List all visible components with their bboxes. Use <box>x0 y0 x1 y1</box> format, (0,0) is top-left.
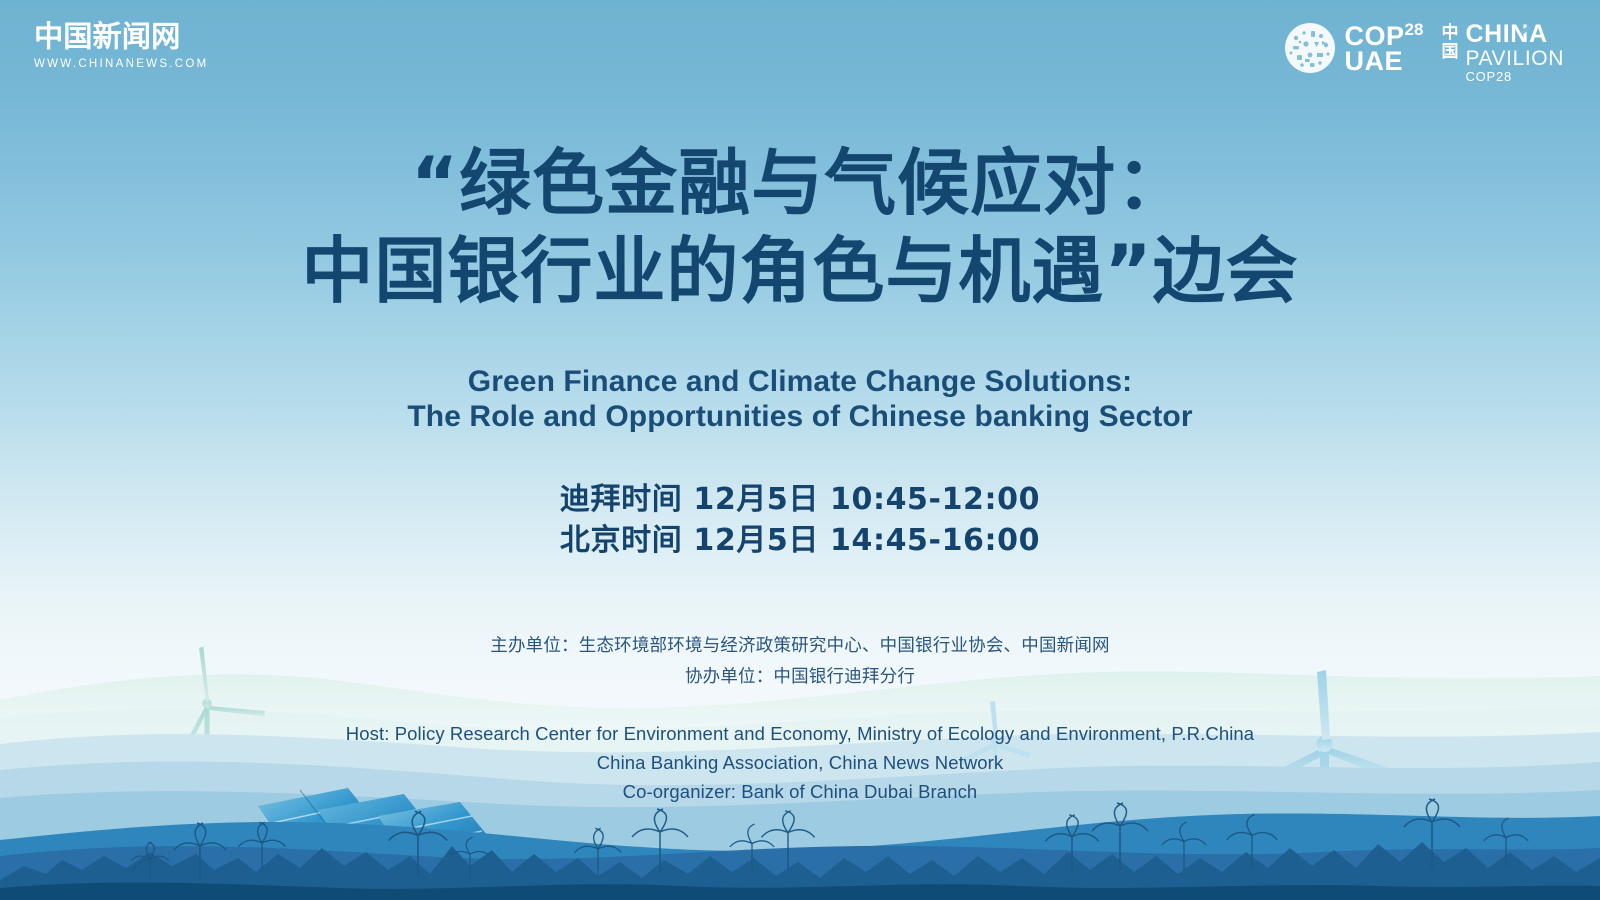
vegetation-silhouettes <box>131 799 1528 883</box>
organizers-chinese: 主办单位：生态环境部环境与经济政策研究中心、中国银行业协会、中国新闻网 协办单位… <box>0 631 1600 692</box>
hill-layer-5 <box>0 846 1600 900</box>
hill-layer-6-jagged-ridge <box>0 842 1600 900</box>
event-title-english: Green Finance and Climate Change Solutio… <box>0 364 1600 435</box>
hill-layer-4 <box>0 813 1600 900</box>
title-en-line-1: Green Finance and Climate Change Solutio… <box>0 364 1600 399</box>
poster-canvas: 中国新闻网 WWW.CHINANEWS.COM <box>0 0 1600 900</box>
hill-layer-7-foreground <box>0 883 1600 900</box>
co-organizer-line-chinese: 协办单位：中国银行迪拜分行 <box>0 662 1600 693</box>
event-schedule: 迪拜时间 12月5日 10:45-12:00 北京时间 12月5日 14:45-… <box>0 479 1600 562</box>
hill-layer-3 <box>0 790 1600 900</box>
host-line-english-1: Host: Policy Research Center for Environ… <box>0 719 1600 748</box>
host-line-english-2: China Banking Association, China News Ne… <box>0 748 1600 777</box>
poster-content: “绿色金融与气候应对： 中国银行业的角色与机遇”边会 Green Finance… <box>0 0 1600 806</box>
solar-panel-3 <box>378 802 496 866</box>
host-line-chinese: 主办单位：生态环境部环境与经济政策研究中心、中国银行业协会、中国新闻网 <box>0 631 1600 662</box>
organizers-english: Host: Policy Research Center for Environ… <box>0 719 1600 807</box>
title-cn-line-2: 中国银行业的角色与机遇”边会 <box>0 228 1600 316</box>
schedule-dubai-time: 迪拜时间 12月5日 10:45-12:00 <box>0 479 1600 520</box>
title-cn-line-1: “绿色金融与气候应对： <box>0 140 1600 228</box>
co-organizer-line-english: Co-organizer: Bank of China Dubai Branch <box>0 777 1600 806</box>
title-en-line-2: The Role and Opportunities of Chinese ba… <box>0 399 1600 434</box>
event-title-chinese: “绿色金融与气候应对： 中国银行业的角色与机遇”边会 <box>0 140 1600 316</box>
schedule-beijing-time: 北京时间 12月5日 14:45-16:00 <box>0 520 1600 561</box>
